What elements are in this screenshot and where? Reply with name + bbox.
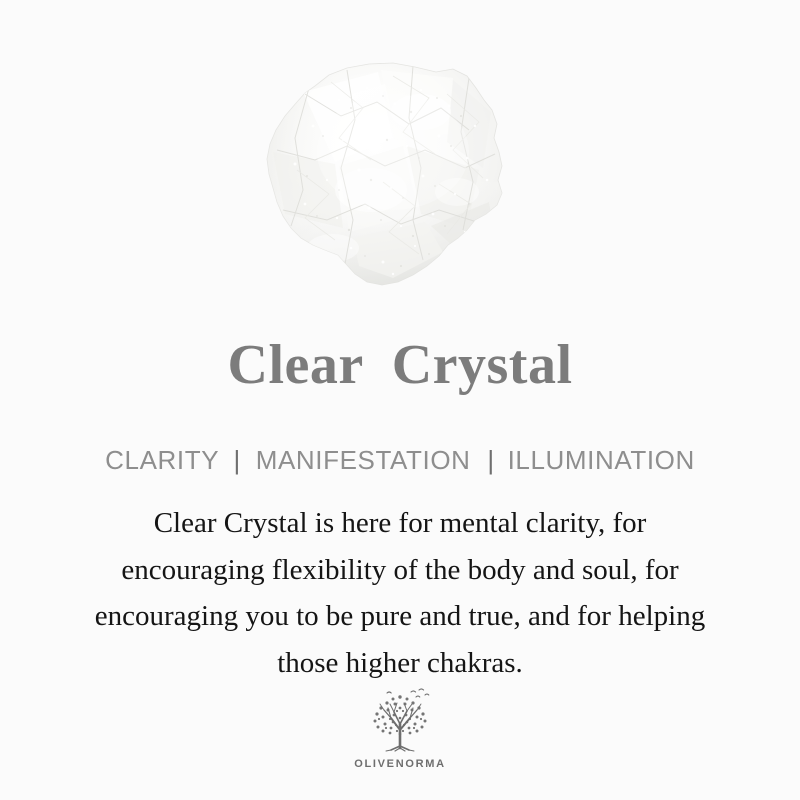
description-line: encouraging you to be pure and true, and… [40, 593, 760, 640]
product-description: Clear Crystal is here for mental clarity… [40, 500, 760, 686]
keyword-manifestation: MANIFESTATION [256, 445, 471, 475]
product-image-area [0, 0, 800, 318]
keyword-illumination: ILLUMINATION [508, 445, 695, 475]
tree-of-life-icon [357, 684, 443, 756]
keyword-separator-1: | [227, 445, 248, 475]
product-info-card: Clear Crystal CLARITY | MANIFESTATION | … [0, 0, 800, 800]
brand-logo: OLIVENORMA [0, 684, 800, 770]
keyword-clarity: CLARITY [105, 445, 219, 475]
product-keywords: CLARITY | MANIFESTATION | ILLUMINATION [0, 444, 800, 476]
product-title: Clear Crystal [0, 332, 800, 398]
brand-name: OLIVENORMA [0, 758, 800, 770]
description-line: Clear Crystal is here for mental clarity… [40, 500, 760, 547]
keyword-separator-2: | [478, 445, 499, 475]
crystal-image [243, 42, 523, 294]
description-line: encouraging flexibility of the body and … [40, 547, 760, 594]
description-line: those higher chakras. [40, 640, 760, 687]
clear-quartz-illustration [243, 42, 523, 294]
